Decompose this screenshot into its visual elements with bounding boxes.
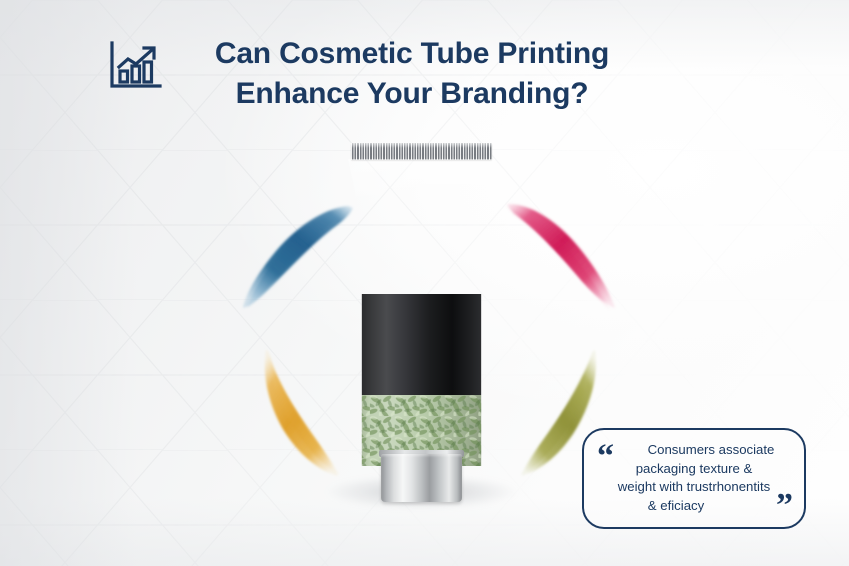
quote-line-1: Consumers associate bbox=[598, 441, 790, 460]
quote-line-3: weight with trustrhonentits bbox=[598, 478, 790, 497]
header: Can Cosmetic Tube Printing Enhance Your … bbox=[108, 34, 642, 114]
quote-open-mark: “ bbox=[597, 440, 614, 474]
tube-screw-cap bbox=[381, 454, 462, 502]
tube-black-band bbox=[345, 294, 498, 395]
quote-callout-box: “ Consumers associate packaging texture … bbox=[582, 428, 806, 529]
quote-text: Consumers associate packaging texture & … bbox=[598, 441, 790, 516]
tube-silver-sheen bbox=[345, 159, 498, 294]
brush-stroke-blue bbox=[232, 190, 362, 320]
brush-stroke-pink bbox=[497, 190, 627, 320]
quote-line-4: & eficiacy bbox=[598, 497, 790, 516]
quote-line-2: packaging texture & bbox=[598, 460, 790, 479]
page-title-line-2: Enhance Your Branding? bbox=[182, 74, 642, 114]
page-title: Can Cosmetic Tube Printing Enhance Your … bbox=[182, 34, 642, 114]
tube-body bbox=[345, 159, 498, 466]
poster-canvas: Can Cosmetic Tube Printing Enhance Your … bbox=[0, 0, 849, 566]
page-title-line-1: Can Cosmetic Tube Printing bbox=[182, 34, 642, 74]
quote-close-mark: ” bbox=[776, 489, 793, 523]
tube-crimp-highlight bbox=[351, 143, 492, 148]
growth-bar-chart-icon bbox=[108, 40, 164, 95]
cosmetic-squeeze-tube bbox=[345, 143, 498, 503]
